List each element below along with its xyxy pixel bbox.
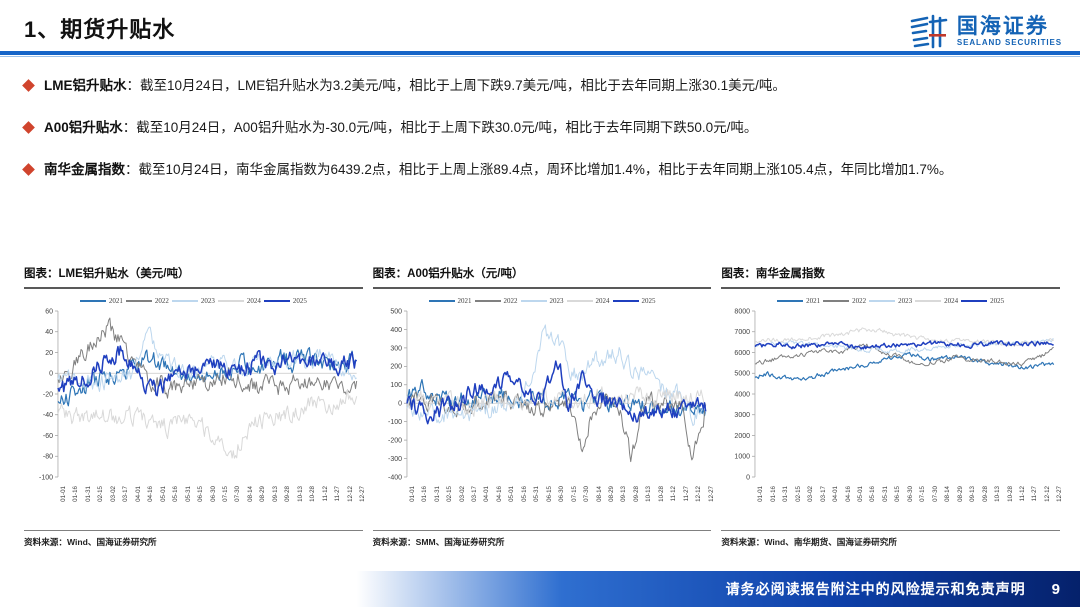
svg-text:-80: -80	[43, 454, 53, 461]
svg-text:6000: 6000	[735, 350, 751, 357]
bullet-item-a00: A00铝升贴水：截至10月24日，A00铝升贴水为-30.0元/吨，相比于上周下…	[24, 118, 1060, 139]
x-axis-tick-label: 08-29	[259, 486, 266, 502]
legend-label-2021: 2021	[109, 297, 123, 305]
x-axis-tick-label: 01-01	[409, 486, 416, 502]
legend-label-2024: 2024	[596, 297, 610, 305]
diamond-bullet-icon	[22, 121, 35, 134]
chart-x-axis-labels: 01-0101-1601-3102-1503-0203-1704-0104-16…	[24, 486, 363, 520]
svg-text:-20: -20	[43, 391, 53, 398]
panel-title: 图表：LME铝升贴水（美元/吨）	[24, 265, 363, 287]
series-line-2022	[407, 391, 706, 462]
svg-text:-400: -400	[388, 474, 402, 481]
company-logo: 国海证券 SEALAND SECURITIES	[909, 10, 1062, 54]
legend-item-2022: 2022	[126, 297, 169, 305]
x-axis-tick-label: 05-31	[185, 486, 192, 502]
legend-swatch-2021	[777, 300, 803, 302]
legend-label-2025: 2025	[990, 297, 1004, 305]
bullet-lead: 南华金属指数	[44, 162, 125, 177]
legend-item-2021: 2021	[429, 297, 472, 305]
legend-label-2022: 2022	[504, 297, 518, 305]
legend-item-2023: 2023	[521, 297, 564, 305]
x-axis-tick-label: 09-13	[620, 486, 627, 502]
chart-plot-area: 5004003002001000-100-200-300-400	[373, 307, 712, 485]
x-axis-tick-label: 08-14	[247, 486, 254, 502]
series-line-2025	[407, 361, 706, 424]
x-axis-tick-label: 08-14	[944, 486, 951, 502]
legend-item-2024: 2024	[567, 297, 610, 305]
svg-text:-100: -100	[388, 419, 402, 426]
x-axis-tick-label: 09-13	[969, 486, 976, 502]
legend-swatch-2022	[126, 300, 152, 302]
x-axis-tick-label: 04-16	[496, 486, 503, 502]
x-axis-tick-label: 05-16	[869, 486, 876, 502]
panel-bottom-rule	[721, 530, 1060, 531]
x-axis-tick-label: 06-15	[197, 486, 204, 502]
legend-label-2021: 2021	[806, 297, 820, 305]
x-axis-tick-label: 12-27	[1056, 486, 1063, 502]
x-axis-tick-label: 05-16	[172, 486, 179, 502]
panel-source: 资料来源：SMM、国海证券研究所	[373, 536, 712, 550]
x-axis-tick-label: 09-28	[284, 486, 291, 502]
diamond-bullet-icon	[22, 79, 35, 92]
bullet-detail: ：截至10月24日，南华金属指数为6439.2点，相比于上周上涨89.4点，周环…	[125, 162, 952, 177]
series-line-2024	[58, 390, 357, 458]
legend-label-2022: 2022	[852, 297, 866, 305]
bullet-lead: LME铝升贴水	[44, 78, 127, 93]
svg-text:400: 400	[390, 327, 402, 334]
svg-text:-300: -300	[388, 456, 402, 463]
legend-item-2024: 2024	[218, 297, 261, 305]
svg-text:500: 500	[390, 308, 402, 315]
bullet-item-nanhua: 南华金属指数：截至10月24日，南华金属指数为6439.2点，相比于上周上涨89…	[24, 160, 1060, 181]
x-axis-tick-label: 07-15	[919, 486, 926, 502]
svg-text:8000: 8000	[735, 308, 751, 315]
x-axis-tick-label: 04-01	[135, 486, 142, 502]
x-axis-tick-label: 03-17	[820, 486, 827, 502]
x-axis-tick-label: 01-16	[770, 486, 777, 502]
x-axis-tick-label: 10-28	[658, 486, 665, 502]
slide-page: 1、期货升贴水	[0, 0, 1080, 607]
x-axis-tick-label: 06-30	[907, 486, 914, 502]
x-axis-tick-label: 10-13	[645, 486, 652, 502]
svg-text:0: 0	[398, 401, 402, 408]
svg-text:7000: 7000	[735, 329, 751, 336]
x-axis-tick-label: 01-01	[60, 486, 67, 502]
svg-text:300: 300	[390, 345, 402, 352]
svg-text:-60: -60	[43, 433, 53, 440]
x-axis-tick-label: 06-15	[546, 486, 553, 502]
x-axis-tick-label: 06-30	[558, 486, 565, 502]
legend-label-2024: 2024	[247, 297, 261, 305]
bullet-text: 南华金属指数：截至10月24日，南华金属指数为6439.2点，相比于上周上涨89…	[44, 160, 1060, 181]
legend-item-2022: 2022	[823, 297, 866, 305]
series-line-2025	[58, 346, 357, 396]
x-axis-tick-label: 12-12	[347, 486, 354, 502]
x-axis-tick-label: 01-16	[421, 486, 428, 502]
chart-panel-a00: 图表：A00铝升贴水（元/吨） 20212022202320242025 500…	[373, 265, 712, 550]
legend-item-2022: 2022	[475, 297, 518, 305]
x-axis-tick-label: 12-27	[359, 486, 366, 502]
bullet-list: LME铝升贴水：截至10月24日，LME铝升贴水为3.2美元/吨，相比于上周下跌…	[24, 76, 1060, 202]
bullet-item-lme: LME铝升贴水：截至10月24日，LME铝升贴水为3.2美元/吨，相比于上周下跌…	[24, 76, 1060, 97]
legend-item-2023: 2023	[172, 297, 215, 305]
x-axis-tick-label: 12-12	[1044, 486, 1051, 502]
legend-item-2021: 2021	[777, 297, 820, 305]
chart-plot-area: 6040200-20-40-60-80-100	[24, 307, 363, 485]
panel-bottom-rule	[24, 530, 363, 531]
x-axis-tick-label: 08-29	[957, 486, 964, 502]
svg-text:0: 0	[746, 474, 750, 481]
legend-swatch-2024	[218, 300, 244, 302]
panel-bottom-rule	[373, 530, 712, 531]
legend-item-2025: 2025	[264, 297, 307, 305]
legend-swatch-2025	[613, 300, 639, 302]
panel-title: 图表：南华金属指数	[721, 265, 1060, 287]
legend-label-2024: 2024	[944, 297, 958, 305]
chart-legend: 20212022202320242025	[24, 297, 363, 305]
legend-swatch-2025	[961, 300, 987, 302]
svg-text:-40: -40	[43, 412, 53, 419]
x-axis-tick-label: 02-15	[795, 486, 802, 502]
legend-item-2024: 2024	[915, 297, 958, 305]
legend-swatch-2021	[429, 300, 455, 302]
x-axis-tick-label: 12-12	[695, 486, 702, 502]
svg-text:100: 100	[390, 382, 402, 389]
legend-swatch-2023	[869, 300, 895, 302]
svg-text:2000: 2000	[735, 433, 751, 440]
x-axis-tick-label: 10-13	[297, 486, 304, 502]
logo-name-cn: 国海证券	[957, 16, 1049, 38]
chart-plot-area: 800070006000500040003000200010000	[721, 307, 1060, 485]
legend-label-2025: 2025	[293, 297, 307, 305]
x-axis-tick-label: 06-15	[894, 486, 901, 502]
panel-body: 20212022202320242025 8000700060005000400…	[721, 289, 1060, 530]
legend-label-2025: 2025	[642, 297, 656, 305]
panel-body: 20212022202320242025 5004003002001000-10…	[373, 289, 712, 530]
page-number: 9	[1052, 581, 1060, 598]
slide-header: 1、期货升贴水	[0, 0, 1080, 58]
legend-label-2023: 2023	[550, 297, 564, 305]
x-axis-tick-label: 09-28	[982, 486, 989, 502]
x-axis-tick-label: 11-27	[334, 486, 341, 501]
chart-legend: 20212022202320242025	[721, 297, 1060, 305]
x-axis-tick-label: 10-13	[994, 486, 1001, 502]
bullet-lead: A00铝升贴水	[44, 120, 123, 135]
legend-swatch-2022	[475, 300, 501, 302]
logo-text: 国海证券 SEALAND SECURITIES	[957, 16, 1062, 48]
bullet-text: LME铝升贴水：截至10月24日，LME铝升贴水为3.2美元/吨，相比于上周下跌…	[44, 76, 1060, 97]
x-axis-tick-label: 02-15	[446, 486, 453, 502]
legend-label-2021: 2021	[458, 297, 472, 305]
x-axis-tick-label: 05-01	[857, 486, 864, 502]
legend-swatch-2024	[567, 300, 593, 302]
x-axis-tick-label: 06-30	[210, 486, 217, 502]
x-axis-tick-label: 04-16	[147, 486, 154, 502]
x-axis-tick-label: 05-16	[521, 486, 528, 502]
legend-swatch-2024	[915, 300, 941, 302]
legend-swatch-2022	[823, 300, 849, 302]
svg-text:3000: 3000	[735, 412, 751, 419]
x-axis-tick-label: 03-02	[459, 486, 466, 502]
x-axis-tick-label: 01-31	[434, 486, 441, 502]
x-axis-tick-label: 05-31	[533, 486, 540, 502]
svg-text:200: 200	[390, 364, 402, 371]
header-divider-thin	[0, 56, 1080, 57]
x-axis-tick-label: 03-02	[110, 486, 117, 502]
chart-panel-lme: 图表：LME铝升贴水（美元/吨） 20212022202320242025 60…	[24, 265, 363, 550]
chart-x-axis-labels: 01-0101-1601-3102-1503-0203-1704-0104-16…	[373, 486, 712, 520]
x-axis-tick-label: 10-28	[309, 486, 316, 502]
svg-text:20: 20	[45, 350, 53, 357]
x-axis-tick-label: 11-27	[683, 486, 690, 501]
series-line-2021	[755, 352, 1054, 380]
x-axis-tick-label: 05-01	[160, 486, 167, 502]
x-axis-tick-label: 04-16	[845, 486, 852, 502]
bullet-detail: ：截至10月24日，A00铝升贴水为-30.0元/吨，相比于上周下跌30.0元/…	[123, 120, 758, 135]
legend-item-2025: 2025	[961, 297, 1004, 305]
legend-swatch-2025	[264, 300, 290, 302]
x-axis-tick-label: 05-31	[882, 486, 889, 502]
x-axis-tick-label: 04-01	[483, 486, 490, 502]
panel-source: 资料来源：Wind、南华期货、国海证券研究所	[721, 536, 1060, 550]
svg-text:1000: 1000	[735, 454, 751, 461]
legend-item-2025: 2025	[613, 297, 656, 305]
sealand-logo-icon	[909, 13, 949, 51]
legend-swatch-2021	[80, 300, 106, 302]
panel-title: 图表：A00铝升贴水（元/吨）	[373, 265, 712, 287]
x-axis-tick-label: 07-15	[571, 486, 578, 502]
x-axis-tick-label: 03-02	[807, 486, 814, 502]
x-axis-tick-label: 11-12	[670, 486, 677, 501]
x-axis-tick-label: 07-30	[932, 486, 939, 502]
chart-panels: 图表：LME铝升贴水（美元/吨） 20212022202320242025 60…	[24, 265, 1060, 550]
diamond-bullet-icon	[22, 163, 35, 176]
svg-text:-200: -200	[388, 438, 402, 445]
x-axis-tick-label: 01-01	[757, 486, 764, 502]
panel-source: 资料来源：Wind、国海证券研究所	[24, 536, 363, 550]
x-axis-tick-label: 11-27	[1031, 486, 1038, 501]
legend-swatch-2023	[521, 300, 547, 302]
x-axis-tick-label: 07-15	[222, 486, 229, 502]
logo-name-en: SEALAND SECURITIES	[957, 38, 1062, 48]
svg-text:0: 0	[49, 371, 53, 378]
legend-swatch-2023	[172, 300, 198, 302]
x-axis-tick-label: 03-17	[122, 486, 129, 502]
legend-label-2023: 2023	[898, 297, 912, 305]
footer-disclaimer: 请务必阅读报告附注中的风险提示和免责声明	[726, 579, 1026, 599]
chart-x-axis-labels: 01-0101-1601-3102-1503-0203-1704-0104-16…	[721, 486, 1060, 520]
x-axis-tick-label: 10-28	[1007, 486, 1014, 502]
x-axis-tick-label: 07-30	[583, 486, 590, 502]
legend-item-2021: 2021	[80, 297, 123, 305]
svg-text:5000: 5000	[735, 371, 751, 378]
x-axis-tick-label: 09-13	[272, 486, 279, 502]
x-axis-tick-label: 03-17	[471, 486, 478, 502]
panel-body: 20212022202320242025 6040200-20-40-60-80…	[24, 289, 363, 530]
x-axis-tick-label: 04-01	[832, 486, 839, 502]
x-axis-tick-label: 05-01	[508, 486, 515, 502]
x-axis-tick-label: 01-31	[782, 486, 789, 502]
x-axis-tick-label: 01-31	[85, 486, 92, 502]
bullet-text: A00铝升贴水：截至10月24日，A00铝升贴水为-30.0元/吨，相比于上周下…	[44, 118, 1060, 139]
x-axis-tick-label: 08-14	[596, 486, 603, 502]
x-axis-tick-label: 07-30	[234, 486, 241, 502]
slide-footer: 请务必阅读报告附注中的风险提示和免责声明 9	[0, 571, 1080, 607]
bullet-detail: ：截至10月24日，LME铝升贴水为3.2美元/吨，相比于上周下跌9.7美元/吨…	[127, 78, 786, 93]
legend-label-2022: 2022	[155, 297, 169, 305]
x-axis-tick-label: 12-27	[708, 486, 715, 502]
x-axis-tick-label: 01-16	[72, 486, 79, 502]
x-axis-tick-label: 11-12	[1019, 486, 1026, 501]
svg-text:4000: 4000	[735, 391, 751, 398]
legend-item-2023: 2023	[869, 297, 912, 305]
chart-legend: 20212022202320242025	[373, 297, 712, 305]
page-title: 1、期货升贴水	[24, 12, 175, 44]
legend-label-2023: 2023	[201, 297, 215, 305]
svg-text:40: 40	[45, 329, 53, 336]
chart-panel-nanhua: 图表：南华金属指数 20212022202320242025 800070006…	[721, 265, 1060, 550]
svg-text:60: 60	[45, 308, 53, 315]
x-axis-tick-label: 11-12	[322, 486, 329, 501]
x-axis-tick-label: 08-29	[608, 486, 615, 502]
x-axis-tick-label: 02-15	[97, 486, 104, 502]
svg-text:-100: -100	[39, 474, 53, 481]
x-axis-tick-label: 09-28	[633, 486, 640, 502]
